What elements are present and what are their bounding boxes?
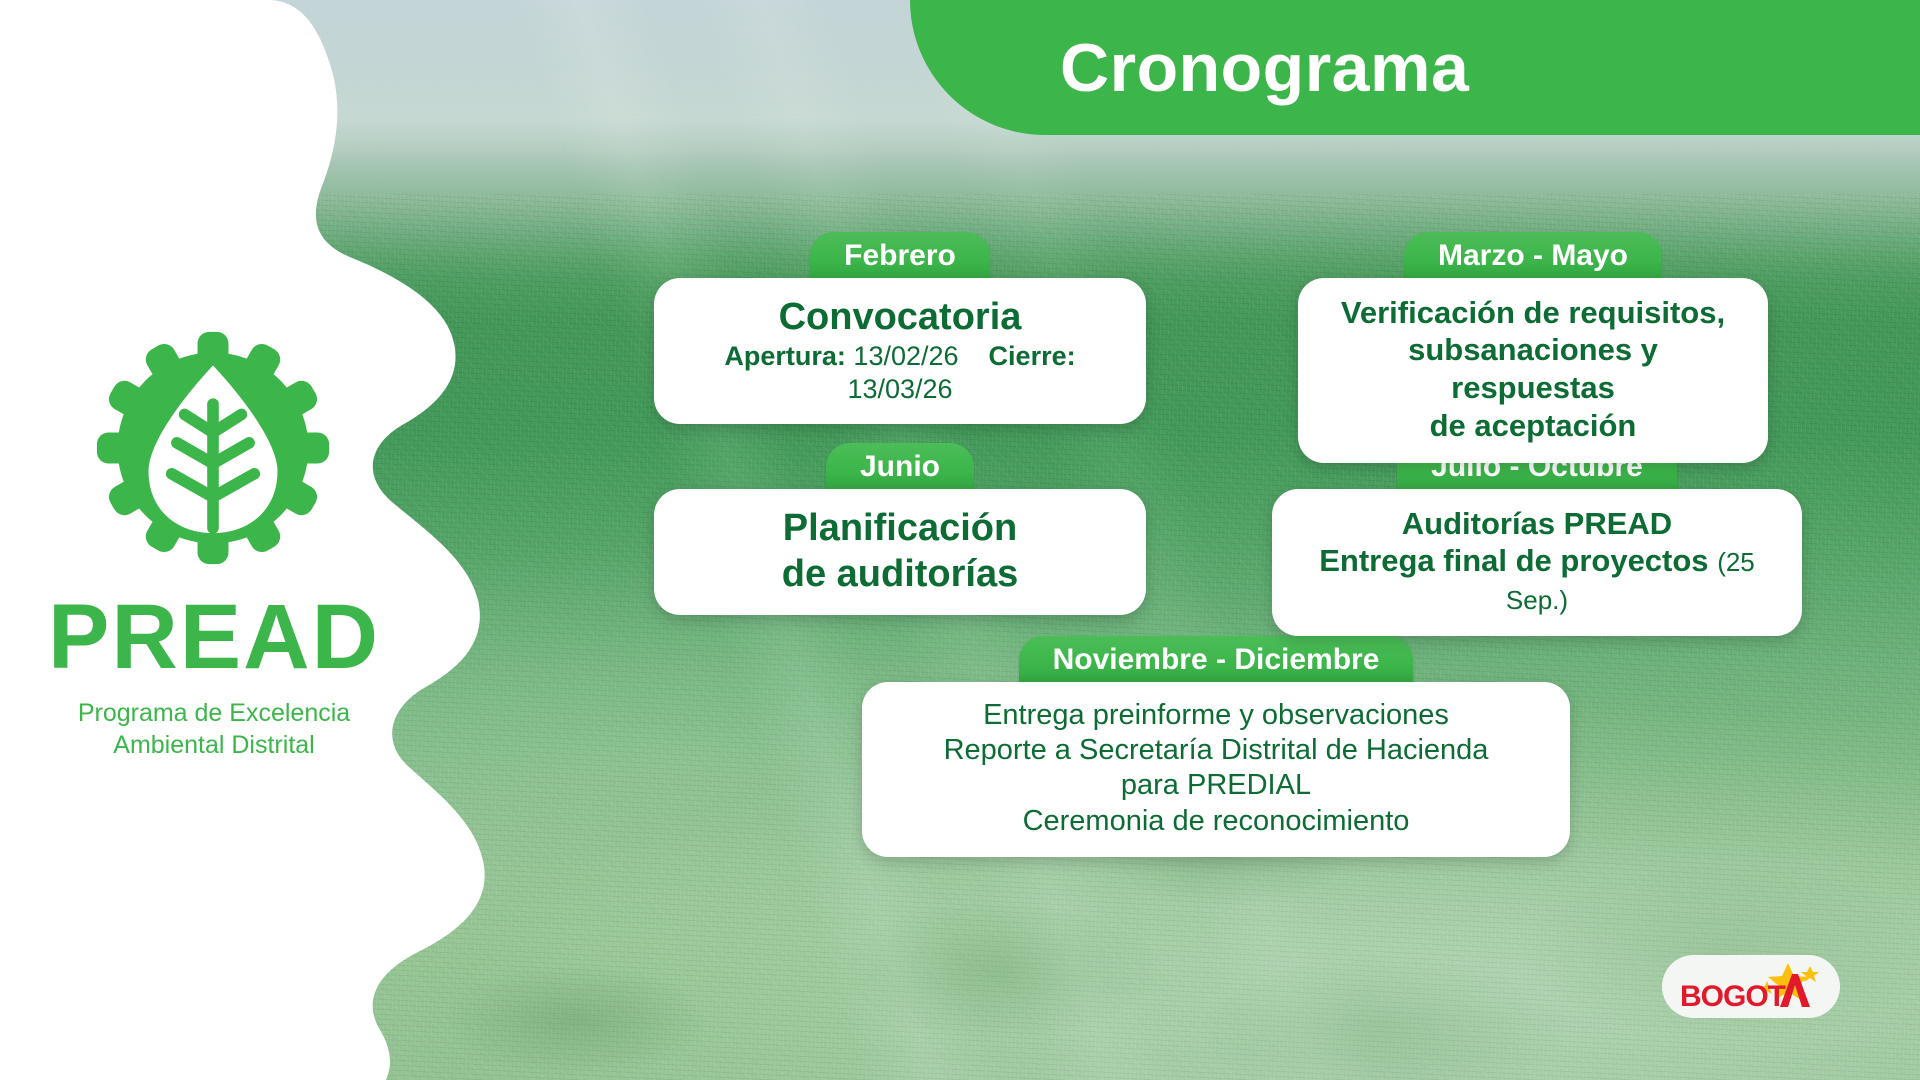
card-line: Entrega preinforme y observaciones — [892, 698, 1540, 733]
cierre-label: Cierre: — [989, 341, 1076, 371]
bogota-wordmark: BOGOT — [1680, 980, 1786, 1013]
cierre-value: 13/03/26 — [847, 374, 952, 404]
card-body: Auditorías PREAD Entrega final de proyec… — [1272, 489, 1802, 636]
bogota-star-logo: BOGOT — [1676, 961, 1826, 1013]
card-body: Convocatoria Apertura: 13/02/26 Cierre: … — [654, 278, 1146, 424]
card-line: Verificación de requisitos, — [1328, 294, 1738, 332]
card-body: Verificación de requisitos, subsanacione… — [1298, 278, 1768, 463]
timeline-card-noviembre-diciembre: Noviembre - Diciembre Entrega preinforme… — [862, 636, 1570, 857]
brand-subtitle-line-2: Ambiental Distrital — [78, 729, 350, 761]
title-panel: Cronograma — [910, 0, 1920, 135]
card-line: Reporte a Secretaría Distrital de Hacien… — [892, 733, 1540, 768]
infographic-canvas: PREAD Programa de Excelencia Ambiental D… — [0, 0, 1920, 1080]
card-body: Entrega preinforme y observaciones Repor… — [862, 682, 1570, 858]
brand-block: PREAD Programa de Excelencia Ambiental D… — [0, 0, 420, 1080]
card-line: Ceremonia de reconocimiento — [892, 804, 1540, 839]
apertura-value: 13/02/26 — [853, 341, 958, 371]
card-line: subsanaciones y respuestas — [1328, 331, 1738, 407]
bogota-logo-badge: BOGOT — [1662, 955, 1840, 1018]
brand-subtitle: Programa de Excelencia Ambiental Distrit… — [78, 697, 350, 761]
card-line-with-note: Entrega final de proyectos (25 Sep.) — [1302, 542, 1772, 618]
card-line: de aceptación — [1328, 407, 1738, 445]
card-title: Convocatoria — [684, 294, 1116, 340]
timeline-card-marzo-mayo: Marzo - Mayo Verificación de requisitos,… — [1298, 232, 1768, 463]
brand-subtitle-line-1: Programa de Excelencia — [78, 697, 350, 729]
timeline-card-febrero: Febrero Convocatoria Apertura: 13/02/26 … — [654, 232, 1146, 424]
apertura-label: Apertura: — [724, 341, 846, 371]
card-line: para PREDIAL — [892, 768, 1540, 803]
gear-leaf-tree-icon — [84, 319, 342, 577]
timeline-card-julio-octubre: Julio - Octubre Auditorías PREAD Entrega… — [1272, 443, 1802, 636]
card-line: de auditorías — [684, 551, 1116, 597]
card-body: Planificación de auditorías — [654, 489, 1146, 616]
page-title: Cronograma — [1060, 34, 1469, 102]
card-line: Planificación — [684, 505, 1116, 551]
card-line-bold: Entrega final de proyectos — [1319, 543, 1708, 578]
card-line: Auditorías PREAD — [1302, 505, 1772, 543]
timeline-card-junio: Junio Planificación de auditorías — [654, 443, 1146, 615]
brand-acronym: PREAD — [48, 591, 380, 683]
card-dates: Apertura: 13/02/26 Cierre: 13/03/26 — [684, 340, 1116, 406]
